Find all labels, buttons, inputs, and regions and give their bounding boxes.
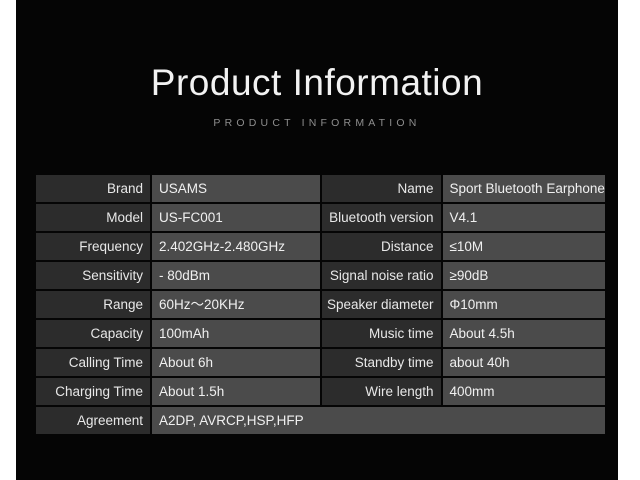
spec-label: Speaker diameter	[322, 291, 441, 318]
spec-value: A2DP, AVRCP,HSP,HFP	[152, 407, 605, 434]
spec-value: USAMS	[152, 175, 320, 202]
table-row-left-half: Capacity100mAh	[36, 320, 320, 347]
table-row: AgreementA2DP, AVRCP,HSP,HFP	[36, 407, 605, 434]
spec-label: Wire length	[322, 378, 441, 405]
spec-label: Bluetooth version	[322, 204, 441, 231]
table-row-right-half: Wire length400mm	[322, 378, 606, 405]
table-row-full-half: AgreementA2DP, AVRCP,HSP,HFP	[36, 407, 605, 434]
table-row-left-half: ModelUS-FC001	[36, 204, 320, 231]
spec-label: Standby time	[322, 349, 441, 376]
spec-label: Brand	[36, 175, 150, 202]
spec-table: BrandUSAMSNameSport Bluetooth EarphoneMo…	[36, 175, 605, 434]
header-block: Product Information PRODUCT INFORMATION	[16, 60, 618, 130]
spec-value: 100mAh	[152, 320, 320, 347]
table-row: Calling TimeAbout 6hStandby timeabout 40…	[36, 349, 605, 376]
spec-value: 400mm	[443, 378, 606, 405]
spec-label: Distance	[322, 233, 441, 260]
spec-label: Name	[322, 175, 441, 202]
table-row-right-half: Speaker diameterΦ10mm	[322, 291, 606, 318]
table-row-left-half: Sensitivity- 80dBm	[36, 262, 320, 289]
spec-label: Capacity	[36, 320, 150, 347]
spec-label: Signal noise ratio	[322, 262, 441, 289]
spec-value: ≤10M	[443, 233, 606, 260]
table-row: Charging TimeAbout 1.5hWire length400mm	[36, 378, 605, 405]
table-row-left-half: Range60Hz～20KHz	[36, 291, 320, 318]
spec-label: Agreement	[36, 407, 150, 434]
spec-label: Music time	[322, 320, 441, 347]
spec-label: Range	[36, 291, 150, 318]
spec-label: Sensitivity	[36, 262, 150, 289]
spec-label: Frequency	[36, 233, 150, 260]
table-row: Frequency2.402GHz-2.480GHzDistance≤10M	[36, 233, 605, 260]
spec-value: - 80dBm	[152, 262, 320, 289]
page-title: Product Information	[16, 60, 618, 106]
spec-value: US-FC001	[152, 204, 320, 231]
spec-value: About 4.5h	[443, 320, 606, 347]
table-row-left-half: Calling TimeAbout 6h	[36, 349, 320, 376]
spec-value: ≥90dB	[443, 262, 606, 289]
table-row: Sensitivity- 80dBmSignal noise ratio≥90d…	[36, 262, 605, 289]
table-row-left-half: Frequency2.402GHz-2.480GHz	[36, 233, 320, 260]
spec-value: Sport Bluetooth Earphone	[443, 175, 606, 202]
spec-value: About 6h	[152, 349, 320, 376]
spec-value: About 1.5h	[152, 378, 320, 405]
table-row: Capacity100mAhMusic timeAbout 4.5h	[36, 320, 605, 347]
spec-label: Calling Time	[36, 349, 150, 376]
table-row-right-half: Signal noise ratio≥90dB	[322, 262, 606, 289]
spec-value: 60Hz～20KHz	[152, 291, 320, 318]
table-row-right-half: Standby timeabout 40h	[322, 349, 606, 376]
spec-label: Charging Time	[36, 378, 150, 405]
spec-value: about 40h	[443, 349, 606, 376]
table-row-left-half: BrandUSAMS	[36, 175, 320, 202]
spec-value: V4.1	[443, 204, 606, 231]
table-row: Range60Hz～20KHzSpeaker diameterΦ10mm	[36, 291, 605, 318]
spec-value: 2.402GHz-2.480GHz	[152, 233, 320, 260]
table-row-right-half: Bluetooth versionV4.1	[322, 204, 606, 231]
spec-value: Φ10mm	[443, 291, 606, 318]
table-row-left-half: Charging TimeAbout 1.5h	[36, 378, 320, 405]
spec-label: Model	[36, 204, 150, 231]
table-row-right-half: Music timeAbout 4.5h	[322, 320, 606, 347]
page-subtitle: PRODUCT INFORMATION	[16, 116, 618, 130]
product-information-panel: Product Information PRODUCT INFORMATION …	[16, 0, 618, 480]
table-row: ModelUS-FC001Bluetooth versionV4.1	[36, 204, 605, 231]
table-row-right-half: Distance≤10M	[322, 233, 606, 260]
table-row: BrandUSAMSNameSport Bluetooth Earphone	[36, 175, 605, 202]
table-row-right-half: NameSport Bluetooth Earphone	[322, 175, 606, 202]
